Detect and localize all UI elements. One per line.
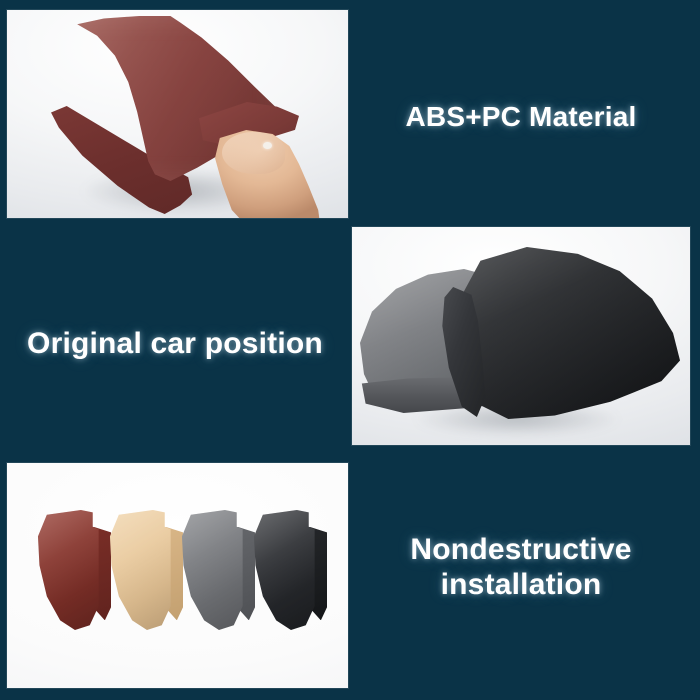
colour-variant-black [251,510,325,630]
caption-nondestructive-installation: Nondestructive installation [352,532,690,603]
product-photo-colour-variants [7,463,348,688]
caption-abs-pc-material: ABS+PC Material [352,100,690,133]
colour-variant-beige [107,510,181,630]
colour-variant-dark-red [35,510,109,630]
caption-original-car-position: Original car position [0,326,350,361]
product-photo-grey-black-pair [352,227,690,445]
colour-variant-grey [179,510,253,630]
product-photo-hand-holding-panel [7,10,348,218]
product-feature-collage: ABS+PC Material Original car position [0,0,700,700]
